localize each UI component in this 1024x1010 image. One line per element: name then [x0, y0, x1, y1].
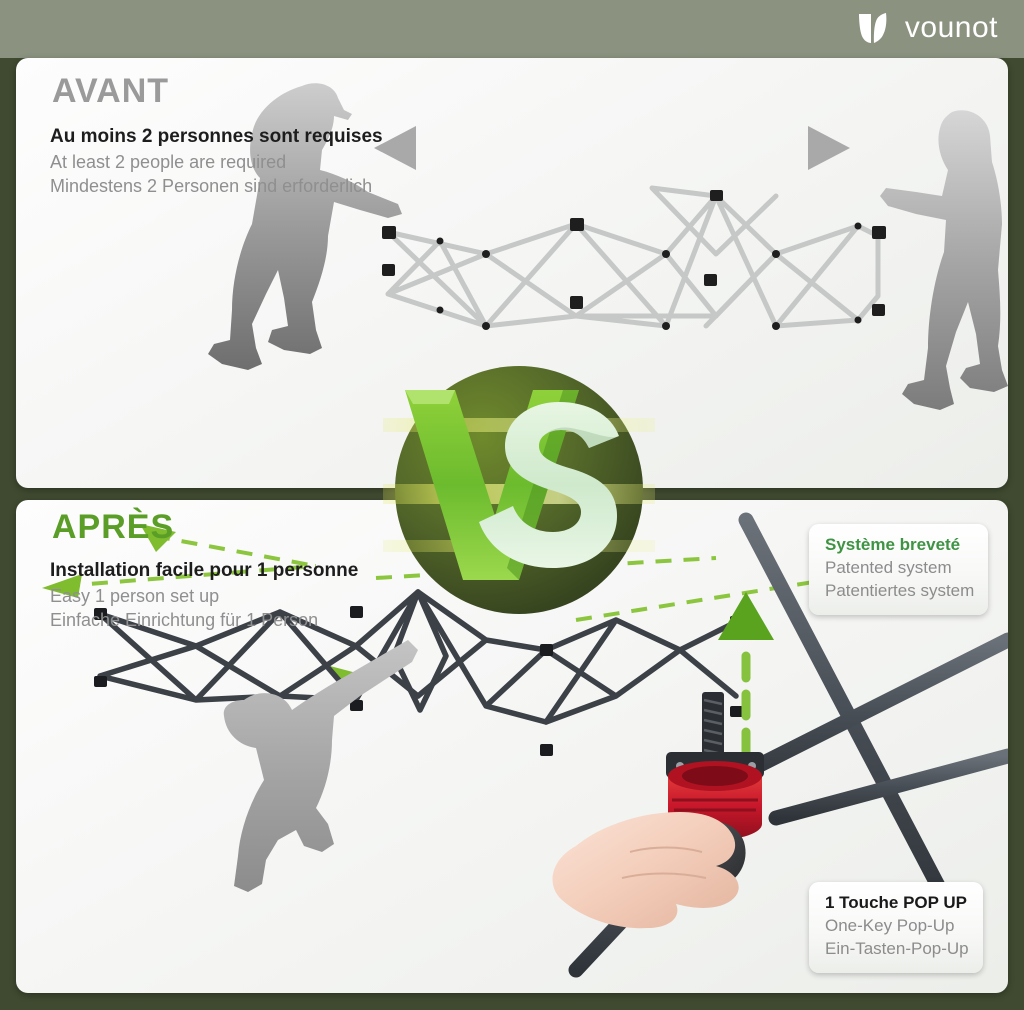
callout-popup-fr: 1 Touche POP UP [825, 892, 969, 915]
callout-popup-en: One-Key Pop-Up [825, 915, 969, 938]
callout-patent-en: Patented system [825, 557, 974, 580]
double-headed-dashed-arrow-icon [374, 126, 850, 170]
callout-patented-system: Système breveté Patented system Patentie… [809, 524, 988, 615]
callout-patent-fr: Système breveté [825, 534, 974, 557]
before-heading: AVANT [52, 72, 169, 111]
hand-gripping-trigger-icon [553, 812, 746, 928]
vs-emblem-icon [383, 364, 655, 616]
callout-patent-de: Patentiertes system [825, 580, 974, 603]
leaf-logo-icon [853, 8, 893, 48]
after-line-fr: Installation facile pour 1 personne [50, 558, 358, 584]
brand-name: vounot [905, 11, 998, 45]
before-text-block: Au moins 2 personnes sont requises At le… [50, 124, 383, 198]
after-line-en: Easy 1 person set up [50, 584, 358, 608]
before-line-en: At least 2 people are required [50, 150, 383, 174]
after-heading: APRÈS [52, 508, 174, 547]
after-line-de: Einfache Einrichtung für 1 Person [50, 608, 358, 632]
callout-popup-de: Ein-Tasten-Pop-Up [825, 938, 969, 961]
ribbed-shaft-icon [702, 692, 724, 760]
green-up-arrow-icon [718, 592, 774, 752]
before-line-fr: Au moins 2 personnes sont requises [50, 124, 383, 150]
brand-logo: vounot [853, 8, 998, 48]
before-line-de: Mindestens 2 Personen sind erforderlich [50, 174, 383, 198]
infographic-stage: vounot [0, 0, 1024, 1010]
callout-one-key-popup: 1 Touche POP UP One-Key Pop-Up Ein-Taste… [809, 882, 983, 973]
person-pulling-right-icon [880, 110, 1008, 410]
after-text-block: Installation facile pour 1 personne Easy… [50, 558, 358, 632]
